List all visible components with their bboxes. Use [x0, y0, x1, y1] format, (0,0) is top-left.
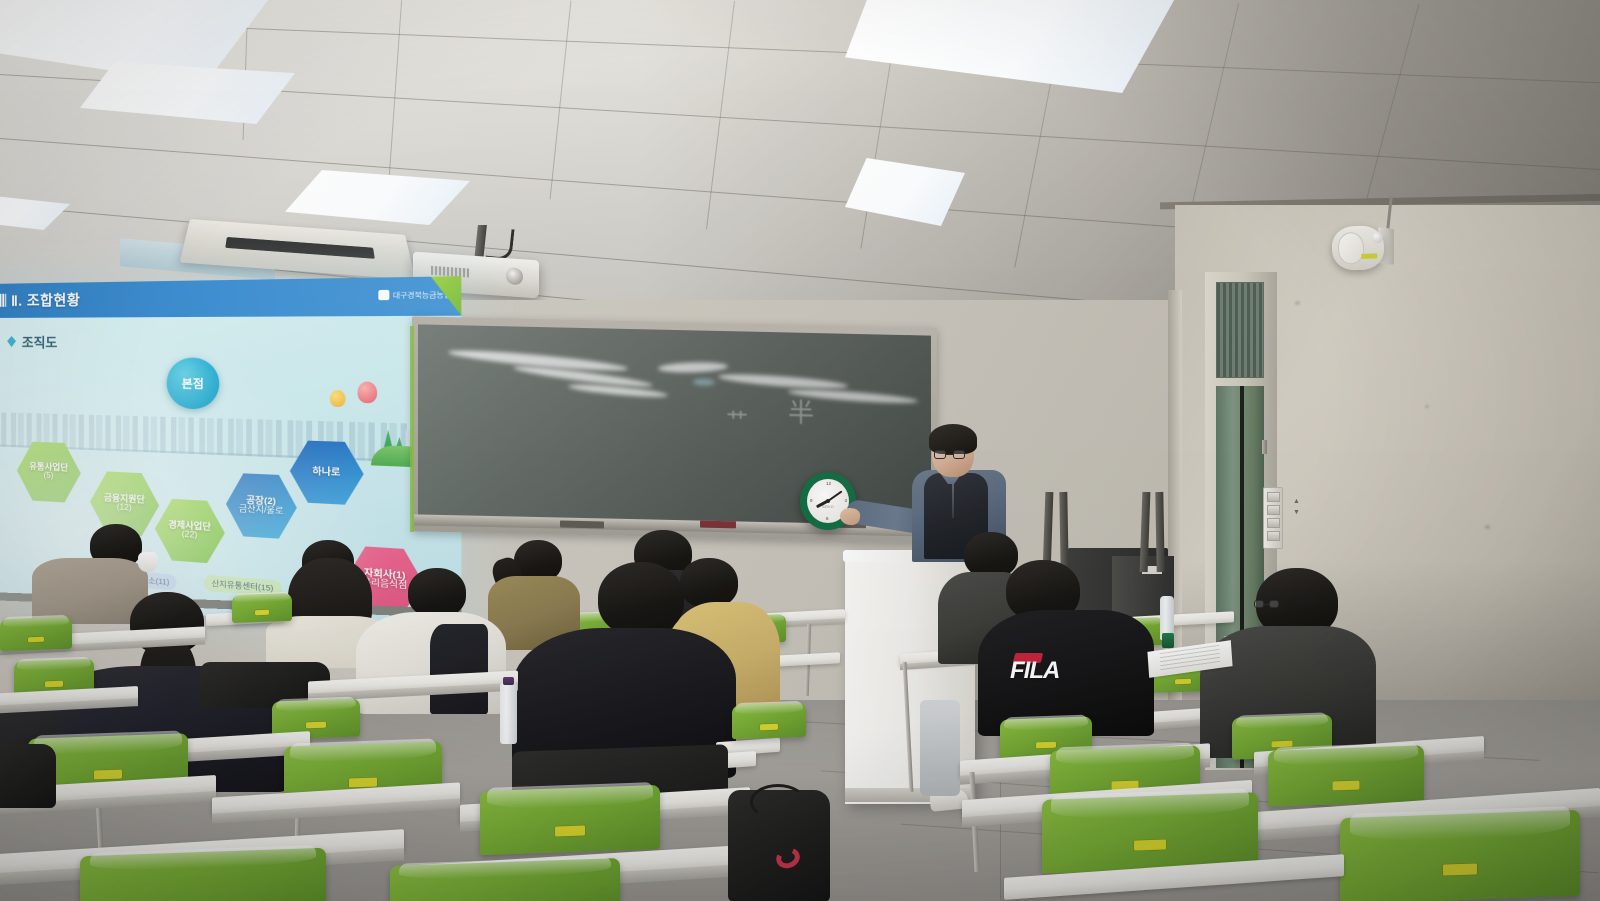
- chair[interactable]: [1268, 745, 1424, 806]
- chair-sticker: [1134, 839, 1166, 850]
- presenter-vest-zipper: [952, 478, 954, 518]
- chair[interactable]: [232, 593, 292, 623]
- chair-sticker: [28, 637, 44, 643]
- chair-sticker: [760, 724, 778, 731]
- light-switch-plate[interactable]: [1263, 487, 1283, 549]
- chair-sticker: [255, 610, 269, 615]
- door-louver-vent: [1216, 282, 1264, 378]
- speaker-label: [1361, 253, 1377, 259]
- chair-sticker: [94, 770, 122, 780]
- chair-sticker: [45, 681, 63, 688]
- speaker-pivot-knob: [1372, 232, 1383, 243]
- student-light-pants: [920, 700, 960, 796]
- classroom-photo-scene: Ⅱ. 조합현황 대구경북능금농협 조직도: [0, 0, 1600, 901]
- chair[interactable]: [732, 703, 806, 740]
- clock-center-pin: [826, 499, 830, 503]
- chalkboard-side-accent: [410, 326, 414, 532]
- projector-lens: [506, 267, 523, 285]
- drink-bottle[interactable]: [500, 682, 517, 744]
- chair-sticker: [1333, 781, 1360, 791]
- chair[interactable]: [390, 858, 620, 901]
- chair-sticker: [1443, 863, 1477, 875]
- fila-logo: FILA: [1010, 657, 1059, 685]
- wall-vertical-label: ▲ ▼: [1288, 498, 1300, 517]
- slide-node-4: 공장(2) 금산지/울로: [226, 473, 297, 540]
- student-fila-jacket: FILA: [978, 560, 1154, 736]
- slide-node-5: 하나로: [290, 440, 364, 506]
- chair-sticker: [1175, 679, 1191, 685]
- chair-sticker: [1036, 742, 1056, 749]
- door-hinge-top: [1262, 440, 1267, 454]
- wall-corner-edge: [1168, 290, 1182, 770]
- slide-node-1: 유통사업단 (5): [17, 441, 81, 503]
- student-glasses-icon: [1254, 600, 1280, 608]
- chair[interactable]: [1340, 810, 1580, 901]
- bag-strap: [750, 784, 806, 820]
- slide-node-3: 경제사업단 (22): [155, 498, 225, 564]
- bottle-cap: [503, 677, 514, 685]
- jacket-on-chair: [0, 744, 56, 808]
- chair[interactable]: [80, 848, 326, 901]
- chair[interactable]: [480, 785, 660, 855]
- air-conditioner-grille: [225, 237, 375, 259]
- face-mask: [138, 552, 158, 572]
- chalkboard-eraser-2[interactable]: [700, 521, 736, 529]
- equipment-stand-far: [1155, 492, 1164, 572]
- chalkboard-eraser-1[interactable]: [560, 521, 604, 529]
- chair[interactable]: [0, 617, 72, 652]
- chair-sticker: [349, 778, 377, 788]
- presenter-glasses-icon: [934, 450, 966, 459]
- speaker-cone-icon: [1337, 232, 1364, 265]
- chair-sticker: [306, 722, 326, 729]
- bottle-cap: [1162, 633, 1174, 648]
- chair-sticker: [555, 825, 585, 836]
